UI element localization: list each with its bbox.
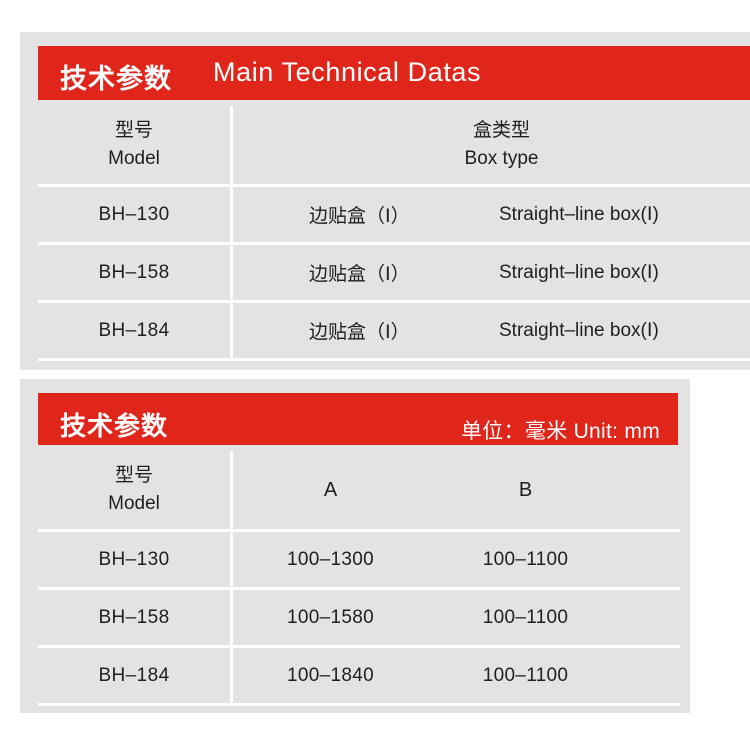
- boxtype-cn-value: 边贴盒（Ⅰ）: [309, 317, 499, 344]
- model-value: BH–158: [98, 262, 169, 284]
- table-row: BH–130 100–1300 100–1100: [38, 532, 680, 590]
- table-row: BH–130 边贴盒（Ⅰ） Straight–line box(Ⅰ): [38, 187, 750, 245]
- table-header-row: 型号 Model A B: [38, 451, 680, 532]
- panel-one-title-cn: 技术参数: [60, 57, 172, 96]
- cell-model: BH–158: [38, 245, 233, 300]
- header-cell-model: 型号 Model: [38, 451, 233, 529]
- value-a: 100–1840: [233, 665, 428, 687]
- panel-two-unit-note: 单位：毫米 Unit: mm: [461, 415, 660, 445]
- header-model-en: Model: [108, 490, 160, 518]
- table-header-row: 型号 Model 盒类型 Box type: [38, 106, 750, 187]
- model-value: BH–184: [98, 320, 169, 342]
- header-boxtype-cn: 盒类型: [473, 117, 530, 145]
- model-value: BH–184: [98, 665, 169, 687]
- value-b: 100–1100: [428, 665, 623, 687]
- cell-model: BH–158: [38, 590, 233, 645]
- cell-boxtype: 边贴盒（Ⅰ） Straight–line box(Ⅰ): [233, 187, 750, 242]
- panel-one-title-en: Main Technical Datas: [213, 57, 481, 88]
- dimensions-table: 型号 Model A B BH–130 100–1300 100–1100: [38, 451, 680, 706]
- value-b: 100–1100: [428, 549, 623, 571]
- table-row: BH–158 100–1580 100–1100: [38, 590, 680, 648]
- boxtype-en-value: Straight–line box(Ⅰ): [499, 319, 659, 342]
- cell-model: BH–130: [38, 532, 233, 587]
- model-value: BH–158: [98, 607, 169, 629]
- header-cell-dimensions: A B: [233, 451, 680, 529]
- header-col-b: B: [428, 479, 623, 502]
- table-row: BH–184 边贴盒（Ⅰ） Straight–line box(Ⅰ): [38, 303, 750, 361]
- header-model-cn: 型号: [115, 117, 153, 145]
- technical-data-panel-one: 技术参数 Main Technical Datas 型号 Model 盒类型 B…: [20, 32, 750, 370]
- boxtype-cn-value: 边贴盒（Ⅰ）: [309, 259, 499, 286]
- header-model-cn: 型号: [115, 462, 153, 490]
- header-model-en: Model: [108, 145, 160, 173]
- model-value: BH–130: [98, 549, 169, 571]
- value-a: 100–1580: [233, 607, 428, 629]
- box-type-table: 型号 Model 盒类型 Box type BH–130 边贴盒（Ⅰ） Stra…: [38, 106, 750, 361]
- technical-data-panel-two: 技术参数 单位：毫米 Unit: mm 型号 Model A B BH–130 …: [20, 379, 690, 713]
- panel-two-title-bar: 技术参数 单位：毫米 Unit: mm: [38, 393, 678, 445]
- value-b: 100–1100: [428, 607, 623, 629]
- table-row: BH–184 100–1840 100–1100: [38, 648, 680, 706]
- cell-dimensions: 100–1840 100–1100: [233, 648, 680, 703]
- boxtype-en-value: Straight–line box(Ⅰ): [499, 261, 659, 284]
- cell-dimensions: 100–1300 100–1100: [233, 532, 680, 587]
- cell-boxtype: 边贴盒（Ⅰ） Straight–line box(Ⅰ): [233, 245, 750, 300]
- cell-boxtype: 边贴盒（Ⅰ） Straight–line box(Ⅰ): [233, 303, 750, 358]
- panel-one-title-bar: 技术参数 Main Technical Datas: [38, 46, 750, 100]
- cell-model: BH–184: [38, 648, 233, 703]
- header-boxtype-en: Box type: [465, 145, 539, 173]
- cell-dimensions: 100–1580 100–1100: [233, 590, 680, 645]
- value-a: 100–1300: [233, 549, 428, 571]
- cell-model: BH–184: [38, 303, 233, 358]
- boxtype-cn-value: 边贴盒（Ⅰ）: [309, 201, 499, 228]
- table-row: BH–158 边贴盒（Ⅰ） Straight–line box(Ⅰ): [38, 245, 750, 303]
- header-col-a: A: [233, 479, 428, 502]
- model-value: BH–130: [98, 204, 169, 226]
- panel-two-title-cn: 技术参数: [60, 406, 168, 443]
- header-cell-boxtype: 盒类型 Box type: [233, 106, 750, 184]
- boxtype-en-value: Straight–line box(Ⅰ): [499, 203, 659, 226]
- cell-model: BH–130: [38, 187, 233, 242]
- header-cell-model: 型号 Model: [38, 106, 233, 184]
